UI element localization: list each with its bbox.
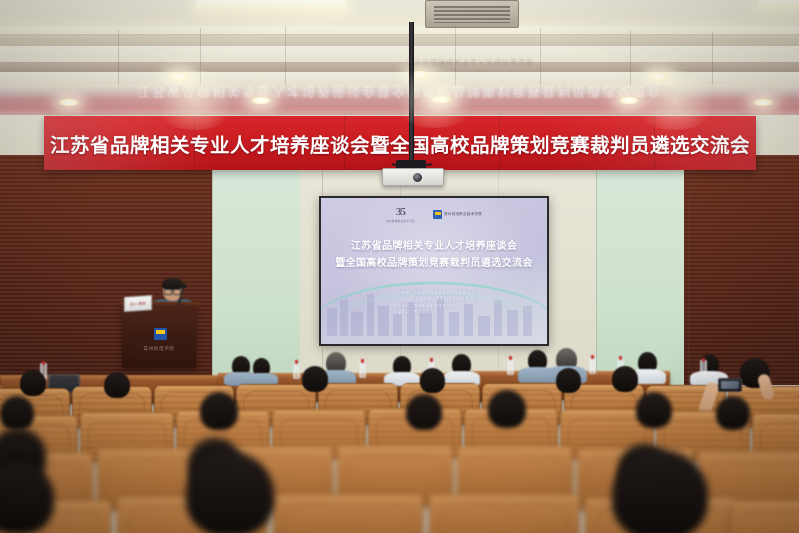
audience-head — [636, 392, 672, 428]
glasses-icon — [164, 289, 181, 293]
seat — [730, 500, 799, 533]
anniversary-subtitle: 常州机电职业技术学院 — [386, 219, 415, 223]
downlight — [250, 96, 272, 105]
water-bottle — [359, 361, 366, 378]
projection-screen: 35 常州机电职业技术学院 常州机电职业技术学院 江苏省品牌相关专业人才培养座谈… — [319, 196, 549, 346]
slide-meta-line: 会议地点：图书馆报告厅 — [393, 309, 475, 315]
audience-head — [556, 368, 581, 393]
downlight — [58, 98, 80, 107]
audience-head-foreground — [612, 450, 708, 533]
ceiling-banner-echo: 江苏省品牌相关专业人才培养座谈会暨全国高校品牌策划竞赛裁判员遴选交流会 — [0, 85, 799, 102]
audience-head — [104, 372, 130, 398]
downlight — [430, 95, 452, 104]
audience-head — [302, 366, 328, 392]
podium-nameplate-text: 张xx 教授 — [125, 300, 151, 307]
slide-title-line2: 暨全国高校品牌策划竞赛裁判员遴选交流会 — [321, 255, 547, 272]
school-mark-icon — [433, 210, 442, 219]
conference-photo: 江苏省品牌相关专业人才培养座谈会 江苏省品牌相关专业人才培养座谈会暨全国高校品牌… — [0, 0, 799, 533]
slide-title: 江苏省品牌相关专业人才培养座谈会 暨全国高校品牌策划竞赛裁判员遴选交流会 — [321, 238, 547, 272]
podium: 常州机电学院 — [122, 306, 196, 368]
downlight — [752, 98, 774, 107]
audience-head — [612, 366, 638, 392]
audience-head — [20, 370, 46, 396]
audience-head-foreground — [186, 452, 274, 533]
podium-organization-label: 常州机电学院 — [122, 346, 196, 352]
anniversary-number: 35 — [396, 206, 405, 218]
podium-logo-icon — [154, 328, 167, 340]
slide-logos: 35 常州机电职业技术学院 常州机电职业技术学院 — [321, 206, 547, 223]
audience-head — [0, 396, 34, 430]
podium-nameplate: 张xx 教授 — [124, 295, 152, 312]
ceiling-banner-echo-upper: 江苏省品牌相关专业人才培养座谈会 — [330, 57, 610, 67]
seat — [428, 494, 580, 533]
audience-head — [420, 368, 445, 393]
slide-title-line1: 江苏省品牌相关专业人才培养座谈会 — [321, 238, 547, 255]
air-conditioner-vent — [425, 0, 519, 28]
audience-head — [716, 396, 750, 430]
slide-meta-block: 主办单位：中国高等教育学会品牌专业委员会 全国高校品牌策划竞赛组委会 承办单位：… — [393, 290, 475, 316]
audience-head — [406, 394, 442, 430]
downlight — [618, 96, 640, 105]
water-bottle — [700, 360, 707, 377]
projector-mount-pole — [409, 22, 414, 170]
water-bottle — [589, 357, 596, 374]
ceiling-projector — [382, 168, 444, 186]
anniversary-logo: 35 常州机电职业技术学院 — [386, 206, 415, 223]
water-bottle — [507, 358, 514, 375]
audience-head — [488, 390, 526, 428]
smartphone — [718, 378, 742, 392]
school-logo-name: 常州机电职业技术学院 — [444, 212, 482, 217]
projector-lens-icon — [413, 173, 422, 182]
wall-panel-wood-right — [684, 155, 799, 385]
event-banner-text: 江苏省品牌相关专业人才培养座谈会暨全国高校品牌策划竞赛裁判员遴选交流会 — [50, 129, 750, 158]
school-logo: 常州机电职业技术学院 — [433, 210, 482, 219]
seat — [272, 494, 424, 533]
wall-panel-mint-right — [596, 157, 688, 385]
audience-head — [200, 392, 238, 430]
water-bottle — [293, 362, 300, 379]
